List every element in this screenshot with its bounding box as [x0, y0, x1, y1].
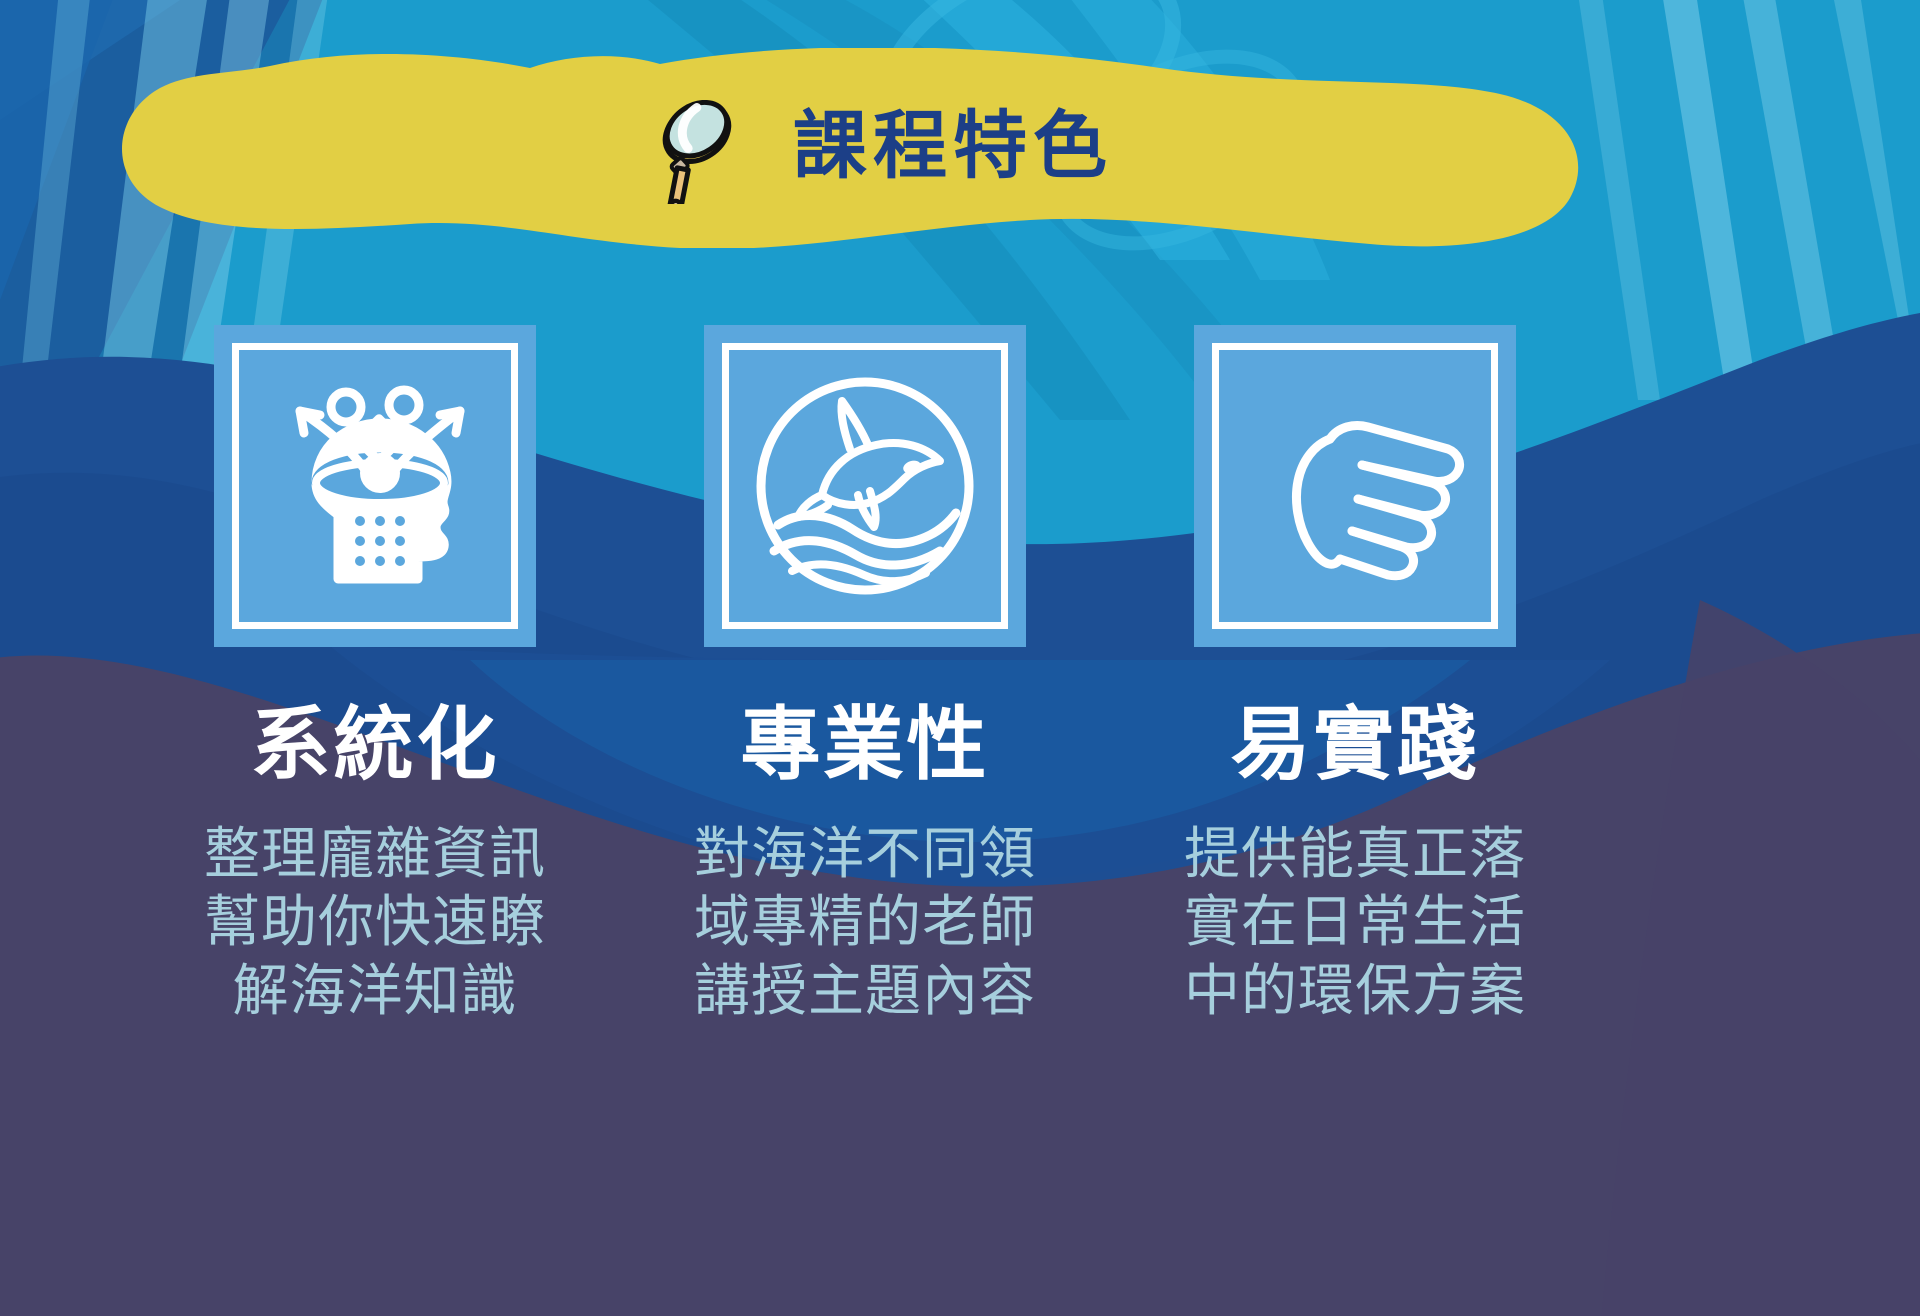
feature-title: 系統化: [251, 705, 500, 785]
feature-body: 對海洋不同領 域專精的老師 講授主題內容: [694, 821, 1036, 1026]
banner-content: 課程特色: [100, 48, 1600, 248]
feature-column-professional: 專業性 對海洋不同領 域專精的老師 講授主題內容: [620, 325, 1110, 1265]
feature-column-systematic: 系統化 整理龐雜資訊 幫助你快速瞭 解海洋知識: [130, 325, 620, 1265]
icon-card: [1194, 325, 1516, 647]
feature-title: 易實踐: [1231, 705, 1480, 785]
magnifying-glass-icon: [627, 100, 759, 204]
feature-body: 整理龐雜資訊 幫助你快速瞭 解海洋知識: [204, 821, 546, 1026]
head-ideas-icon: [254, 365, 496, 607]
page-title: 課程特色: [793, 109, 1113, 183]
feature-column-practical: 易實踐 提供能真正落 實在日常生活 中的環保方案: [1110, 325, 1600, 1265]
icon-card: [704, 325, 1026, 647]
banner: 課程特色: [100, 48, 1600, 248]
poster-root: 課程特色: [0, 0, 1920, 1316]
pointing-hand-icon: [1234, 365, 1476, 607]
feature-body: 提供能真正落 實在日常生活 中的環保方案: [1184, 821, 1526, 1026]
orca-waves-icon: [744, 365, 986, 607]
icon-card: [214, 325, 536, 647]
feature-columns: 系統化 整理龐雜資訊 幫助你快速瞭 解海洋知識: [0, 325, 1920, 1265]
feature-title: 專業性: [741, 705, 990, 785]
